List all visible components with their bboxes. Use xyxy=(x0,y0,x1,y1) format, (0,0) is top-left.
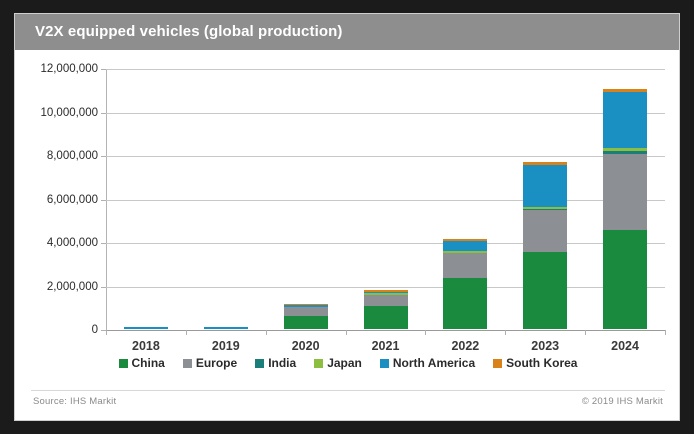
y-axis-tick xyxy=(101,113,106,114)
legend-label-europe: Europe xyxy=(196,356,237,370)
x-axis-tick xyxy=(665,330,666,335)
chart-legend: ChinaEuropeIndiaJapanNorth AmericaSouth … xyxy=(15,356,680,370)
gridline xyxy=(106,243,665,244)
y-axis-label: 8,000,000 xyxy=(47,150,98,162)
legend-swatch-japan xyxy=(314,359,323,368)
y-axis-label: 0 xyxy=(92,324,98,336)
legend-swatch-south-korea xyxy=(493,359,502,368)
bar-segment-south-korea xyxy=(284,304,328,306)
x-axis-tick xyxy=(186,330,187,335)
x-axis-label-2024: 2024 xyxy=(611,339,639,353)
gridline xyxy=(106,113,665,114)
x-axis-label-2023: 2023 xyxy=(531,339,559,353)
legend-item-north-america[interactable]: North America xyxy=(380,356,475,370)
bar-2024[interactable] xyxy=(603,89,647,329)
bar-segment-europe xyxy=(284,307,328,316)
y-axis-label: 12,000,000 xyxy=(40,63,98,75)
copyright-label: © 2019 IHS Markit xyxy=(582,396,663,407)
chart-footer: Source: IHS Markit © 2019 IHS Markit xyxy=(15,396,680,416)
chart-screenshot: V2X equipped vehicles (global production… xyxy=(0,0,694,434)
bar-segment-north-america xyxy=(603,92,647,148)
chart-title-bar: V2X equipped vehicles (global production… xyxy=(15,14,680,50)
bar-segment-north-america xyxy=(284,305,328,307)
bar-segment-china xyxy=(364,306,408,329)
x-axis-tick xyxy=(106,330,107,335)
x-axis-tick xyxy=(346,330,347,335)
legend-label-japan: Japan xyxy=(327,356,362,370)
bar-segment-south-korea xyxy=(523,162,567,165)
bar-segment-china xyxy=(443,278,487,329)
legend-label-south-korea: South Korea xyxy=(506,356,577,370)
x-axis-label-2021: 2021 xyxy=(372,339,400,353)
footer-divider xyxy=(31,390,665,391)
bar-2020[interactable] xyxy=(284,304,328,329)
legend-item-south-korea[interactable]: South Korea xyxy=(493,356,577,370)
bar-segment-north-america xyxy=(124,327,168,329)
chart-card: V2X equipped vehicles (global production… xyxy=(14,13,680,421)
bar-segment-india xyxy=(603,151,647,154)
plot-area: 02,000,0004,000,0006,000,0008,000,00010,… xyxy=(106,69,665,330)
legend-item-japan[interactable]: Japan xyxy=(314,356,362,370)
bar-segment-japan xyxy=(364,293,408,295)
x-axis-tick xyxy=(266,330,267,335)
legend-item-india[interactable]: India xyxy=(255,356,296,370)
x-axis-tick xyxy=(585,330,586,335)
legend-label-china: China xyxy=(132,356,165,370)
x-axis-tick xyxy=(425,330,426,335)
legend-item-china[interactable]: China xyxy=(119,356,165,370)
bar-segment-north-america xyxy=(523,165,567,207)
y-axis-label: 6,000,000 xyxy=(47,194,98,206)
legend-swatch-north-america xyxy=(380,359,389,368)
y-axis-label: 10,000,000 xyxy=(40,107,98,119)
source-label: Source: IHS Markit xyxy=(33,396,116,407)
x-axis-label-2020: 2020 xyxy=(292,339,320,353)
legend-item-europe[interactable]: Europe xyxy=(183,356,237,370)
bar-segment-china xyxy=(603,230,647,329)
legend-label-north-america: North America xyxy=(393,356,475,370)
gridline xyxy=(106,69,665,70)
legend-swatch-china xyxy=(119,359,128,368)
y-axis-tick xyxy=(101,200,106,201)
chart-canvas: 02,000,0004,000,0006,000,0008,000,00010,… xyxy=(15,50,680,384)
bar-segment-south-korea xyxy=(443,239,487,241)
bar-segment-japan xyxy=(443,251,487,253)
bar-segment-north-america xyxy=(443,241,487,251)
gridline xyxy=(106,287,665,288)
y-axis-label: 4,000,000 xyxy=(47,237,98,249)
x-axis-tick xyxy=(505,330,506,335)
y-axis-label: 2,000,000 xyxy=(47,281,98,293)
bar-segment-north-america xyxy=(204,327,248,329)
bar-2018[interactable] xyxy=(124,327,168,329)
bar-segment-europe xyxy=(443,253,487,278)
legend-swatch-europe xyxy=(183,359,192,368)
legend-swatch-india xyxy=(255,359,264,368)
y-axis-tick xyxy=(101,243,106,244)
x-axis-label-2018: 2018 xyxy=(132,339,160,353)
bar-segment-europe xyxy=(364,295,408,307)
legend-label-india: India xyxy=(268,356,296,370)
x-axis-label-2019: 2019 xyxy=(212,339,240,353)
bar-segment-china xyxy=(523,252,567,329)
bar-segment-europe xyxy=(523,210,567,252)
x-axis-line xyxy=(106,330,665,331)
bar-2021[interactable] xyxy=(364,290,408,329)
bar-segment-china xyxy=(284,316,328,329)
bar-segment-south-korea xyxy=(603,89,647,92)
bar-2022[interactable] xyxy=(443,239,487,329)
page-title: V2X equipped vehicles (global production… xyxy=(35,23,342,40)
bar-segment-south-korea xyxy=(364,290,408,292)
bar-segment-japan xyxy=(603,148,647,152)
bar-segment-japan xyxy=(523,207,567,210)
x-axis-label-2022: 2022 xyxy=(451,339,479,353)
gridline xyxy=(106,156,665,157)
bar-2019[interactable] xyxy=(204,327,248,329)
bar-segment-europe xyxy=(603,154,647,230)
y-axis-tick xyxy=(101,69,106,70)
gridline xyxy=(106,200,665,201)
y-axis-tick xyxy=(101,156,106,157)
bar-2023[interactable] xyxy=(523,162,567,329)
y-axis-tick xyxy=(101,287,106,288)
